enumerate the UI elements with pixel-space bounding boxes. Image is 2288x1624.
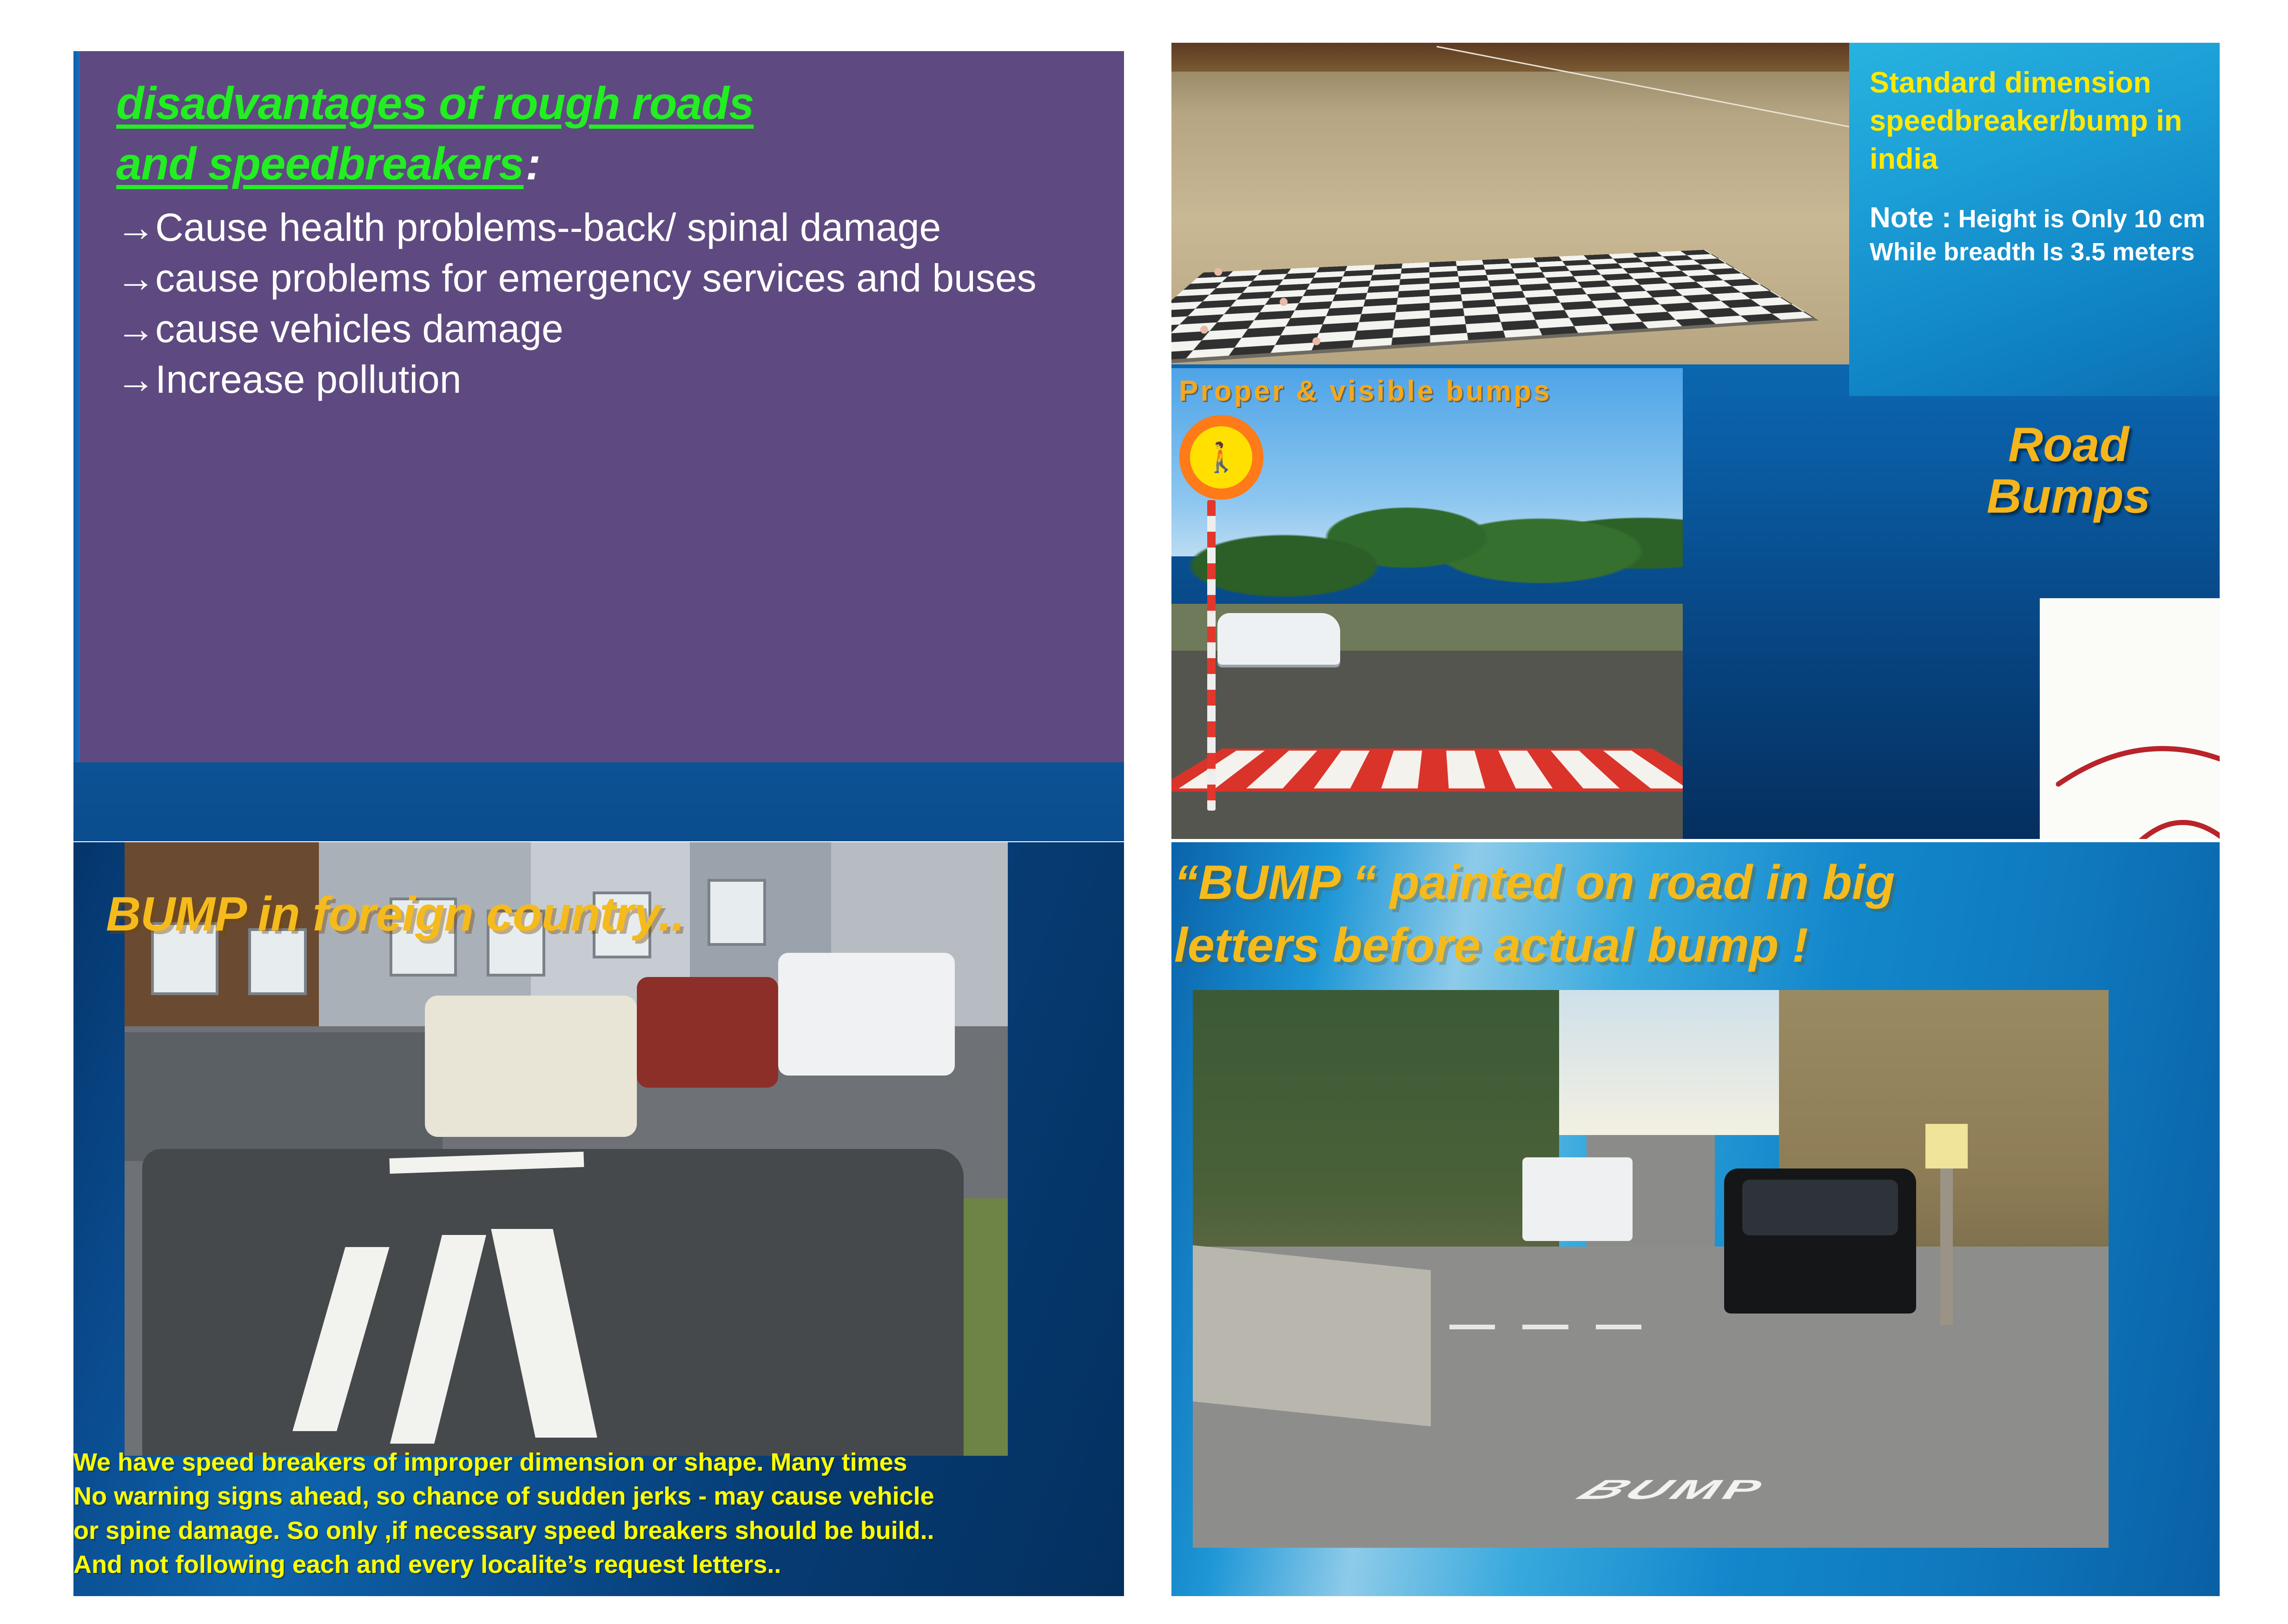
caption-line-2: No warning signs ahead, so chance of sud… — [73, 1479, 1119, 1513]
correct-bump-curve-icon — [2058, 749, 2220, 784]
note-line1: Height is Only 10 cm — [1958, 205, 2205, 233]
purple-text-card: disadvantages of rough roads and speedbr… — [73, 51, 1124, 762]
br-title-line1: “BUMP “ painted on road in big — [1174, 852, 2215, 914]
proper-visible-bumps-label: Proper & visible bumps — [1179, 375, 1727, 408]
pedestrian-crossing-sign-icon: 🚶 — [1179, 415, 1264, 500]
bullet-emergency: →cause problems for emergency services a… — [116, 253, 1096, 304]
note-label: Note : — [1870, 202, 1951, 234]
bump-painted-road-photo: BUMP — [1193, 990, 2109, 1548]
tl-title-line2: and speedbreakers — [116, 138, 523, 189]
panel-road-bumps: Standard dimension speedbreaker/bump in … — [1171, 43, 2220, 839]
bump-foreign-country-title: BUMP in foreign country.. — [106, 887, 1091, 942]
road-bumps-line2: Bumps — [1943, 471, 2194, 522]
correct-wrong-profile-diagram: correct wrong — [2040, 598, 2220, 839]
bump-profile-svg — [2040, 598, 2220, 839]
improper-speedbreaker-caption: We have speed breakers of improper dimen… — [73, 1446, 1119, 1582]
bullet-pollution: →Increase pollution — [116, 354, 1096, 405]
caption-line-1: We have speed breakers of improper dimen… — [73, 1446, 1119, 1479]
br-title-line2: letters before actual bump ! — [1174, 914, 2215, 977]
checkered-speed-table-photo — [1171, 43, 1859, 364]
bullet-vehicles: →cause vehicles damage — [116, 304, 1096, 354]
road-marking-bump-text: BUMP — [1559, 1475, 2090, 1506]
panel-bump-painted-on-road: “BUMP “ painted on road in big letters b… — [1171, 842, 2220, 1596]
wrong-bump-curve-icon — [2126, 823, 2220, 839]
caption-line-4: And not following each and every localit… — [73, 1548, 1119, 1582]
bullet-health: →Cause health problems--back/ spinal dam… — [116, 202, 1096, 253]
panel-bump-foreign-country: BUMP in foreign country.. We have speed … — [73, 842, 1124, 1596]
caption-line-3: or spine damage. So only ,if necessary s… — [73, 1514, 1119, 1548]
note-line2: While breadth Is 3.5 meters — [1870, 236, 2202, 268]
panel-disadvantages: disadvantages of rough roads and speedbr… — [73, 51, 1124, 841]
road-bumps-line1: Road — [1943, 419, 2194, 471]
tl-title-line1: disadvantages of rough roads — [116, 78, 1096, 129]
standard-dimension-card: Standard dimension speedbreaker/bump in … — [1849, 43, 2220, 396]
dimension-title: Standard dimension speedbreaker/bump in … — [1870, 64, 2202, 178]
road-bumps-heading: Road Bumps — [1943, 419, 2194, 523]
bump-painted-title: “BUMP “ painted on road in big letters b… — [1174, 852, 2215, 977]
zebra-crossing-photo: 🚶 — [1171, 368, 1683, 839]
tl-title-colon: : — [526, 138, 541, 189]
